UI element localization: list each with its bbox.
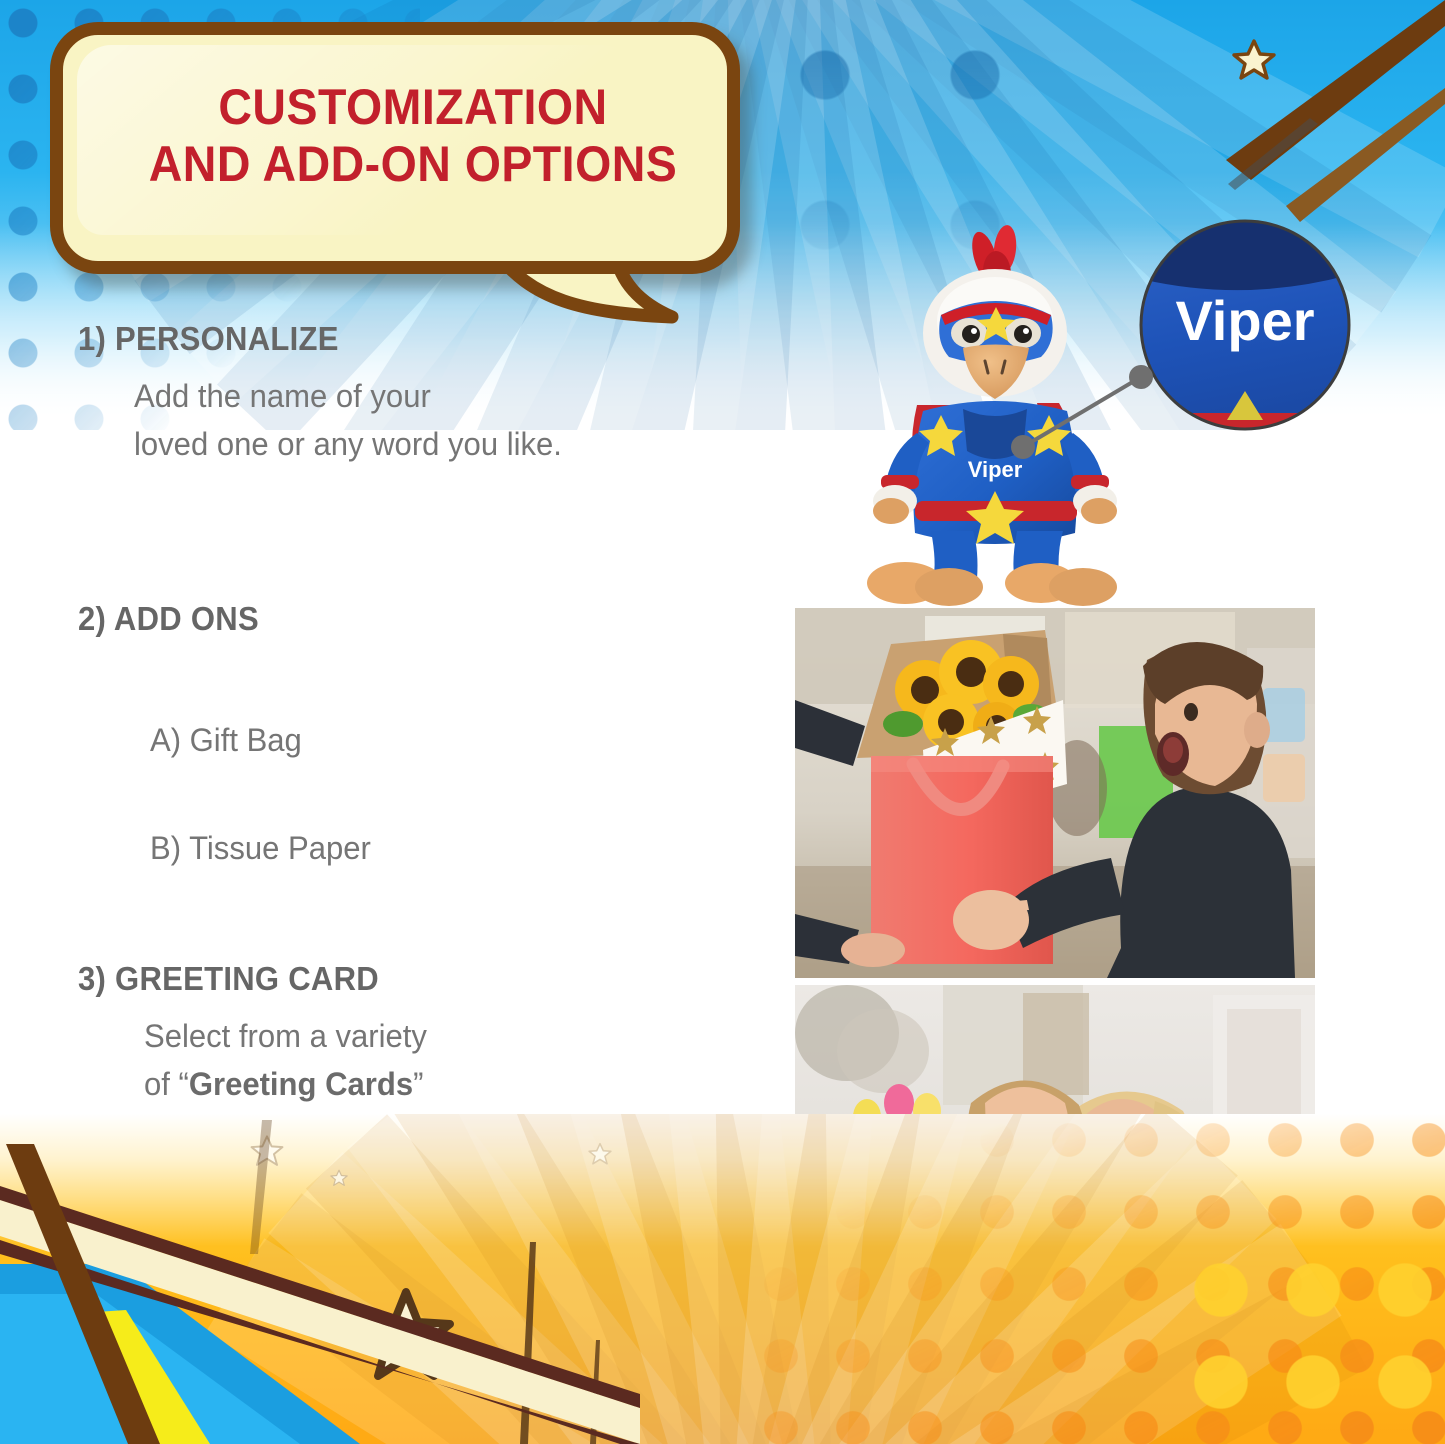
gift-bag-scene [795, 608, 1315, 978]
title-line-1: CUSTOMIZATION [218, 79, 607, 135]
add-on-item-gift-bag: A) Gift Bag [150, 720, 371, 760]
step-1-personalize: 1) PERSONALIZE Add the name of your love… [78, 320, 575, 468]
infographic-canvas: CUSTOMIZATION AND ADD-ON OPTIONS 1) PERS… [0, 0, 1445, 1444]
step-2-heading: 2) ADD ONS [78, 600, 360, 638]
plush-feet [867, 562, 1117, 606]
callout-dot-source [1011, 435, 1035, 459]
corner-banner-bottom-left [0, 1144, 640, 1444]
boy-hand [953, 890, 1029, 950]
star-icon-top-right [1232, 38, 1276, 82]
callout-dot-target [1129, 365, 1153, 389]
quote-close: ” [413, 1066, 423, 1102]
step-1-body-line-1: Add the name of your [134, 372, 562, 420]
quote-open: of “ [144, 1066, 189, 1102]
gift-bag-photo [795, 608, 1315, 978]
step-1-body-line-2: loved one or any word you like. [134, 420, 562, 468]
step-3-greeting-card: 3) GREETING CARD Select from a variety o… [78, 960, 436, 1108]
title-speech-bubble: CUSTOMIZATION AND ADD-ON OPTIONS [50, 22, 770, 312]
product-plush-with-magnifier: Viper Viper [845, 215, 1365, 610]
step-3-body-line-1: Select from a variety [144, 1012, 427, 1060]
step-3-heading: 3) GREETING CARD [78, 960, 414, 998]
bottom-comic-background [0, 1114, 1445, 1444]
greeting-cards-emphasis: Greeting Cards [189, 1066, 413, 1102]
add-on-item-tissue-paper: B) Tissue Paper [150, 828, 371, 868]
plush-chest-name-text: Viper [968, 457, 1023, 482]
step-3-body: Select from a variety of “Greeting Cards… [144, 1012, 427, 1108]
page-title: CUSTOMIZATION AND ADD-ON OPTIONS [125, 79, 702, 193]
title-line-2: AND ADD-ON OPTIONS [125, 136, 702, 193]
step-1-heading: 1) PERSONALIZE [78, 320, 545, 358]
bubble-body: CUSTOMIZATION AND ADD-ON OPTIONS [50, 22, 740, 274]
step-2-add-ons: 2) ADD ONS A) Gift Bag B) Tissue Paper [78, 600, 378, 868]
plush-toy-illustration: Viper Viper [845, 215, 1365, 610]
magnifier-callout: Viper [1140, 220, 1350, 430]
magnifier-name-text: Viper [1175, 289, 1314, 352]
step-3-body-line-2: of “Greeting Cards” [144, 1060, 427, 1108]
step-1-body: Add the name of your loved one or any wo… [134, 372, 562, 468]
